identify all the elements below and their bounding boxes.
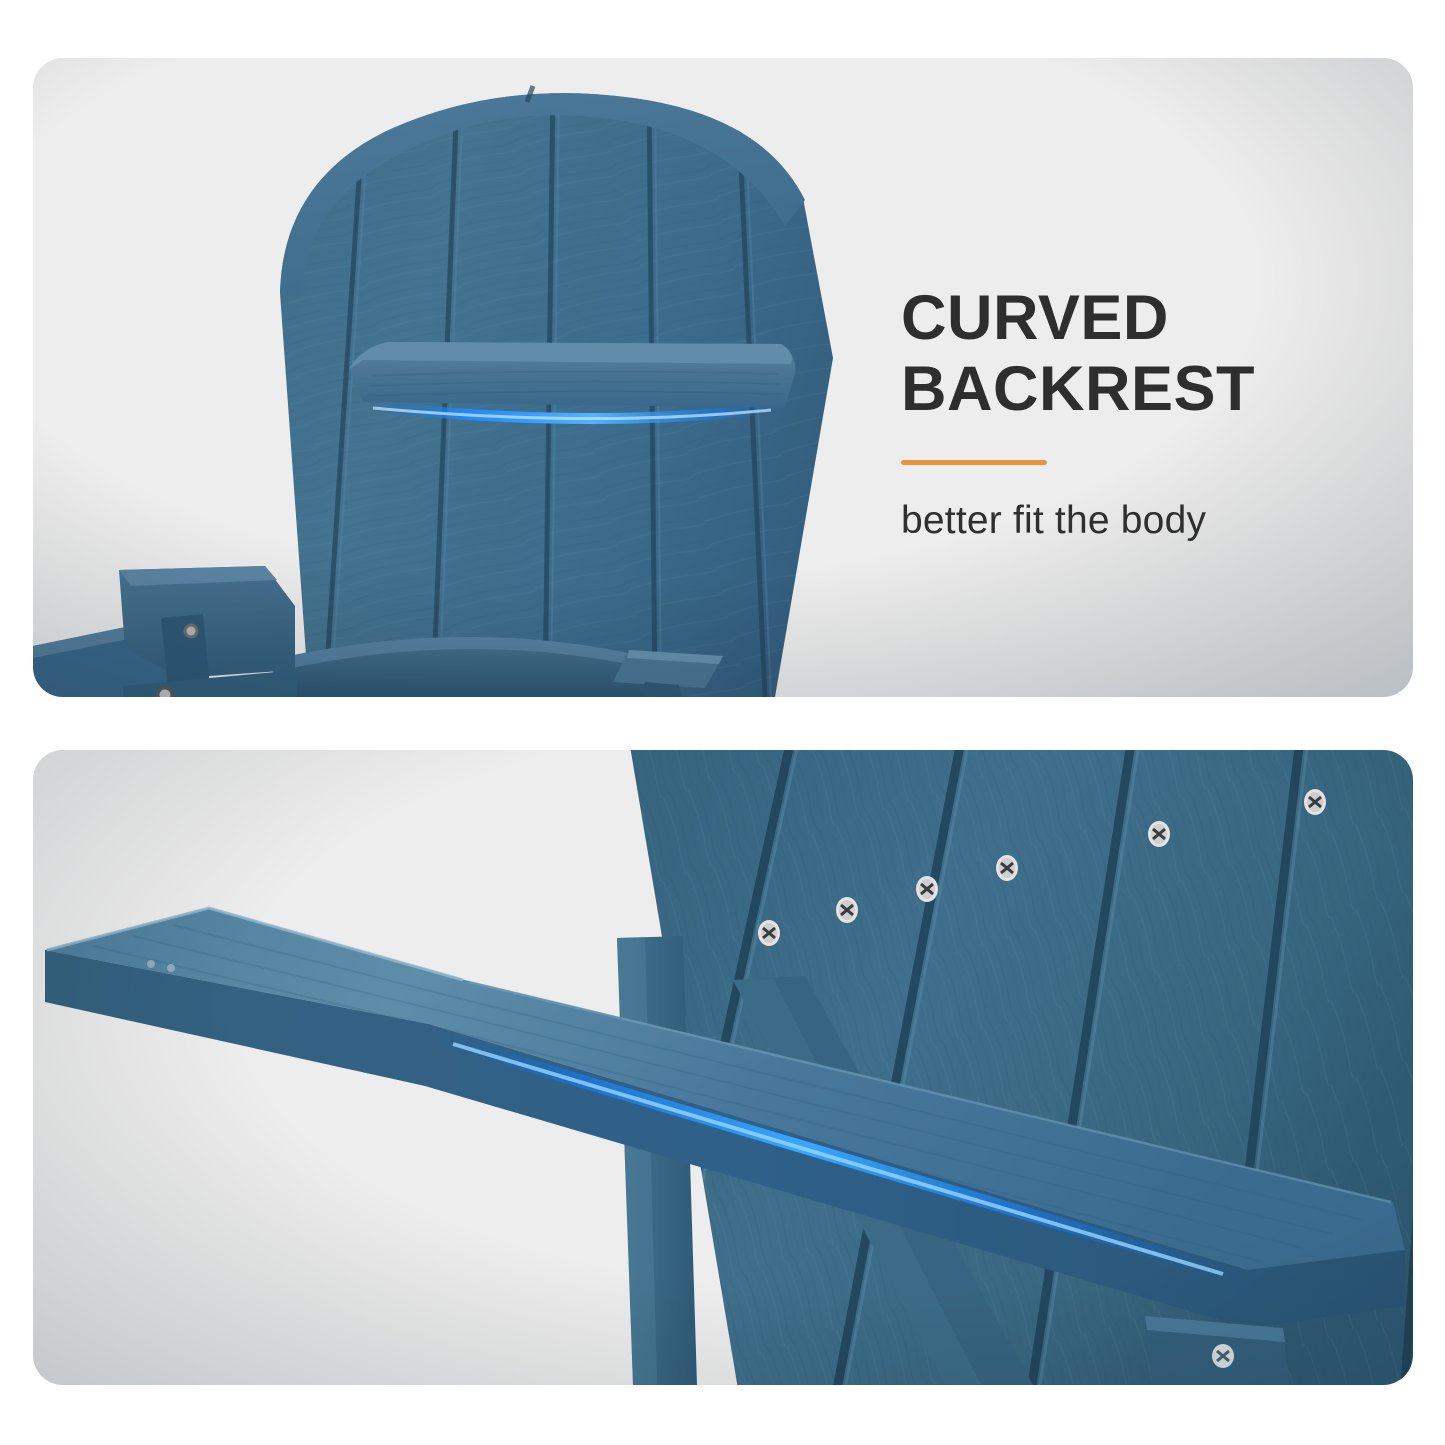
product-feature-graphic: CURVED BACKREST better fit the body (0, 0, 1445, 1445)
feature-text-curved-backrest: CURVED BACKREST better fit the body (901, 283, 1255, 543)
feature-subtitle: better fit the body (901, 499, 1255, 543)
feature-panel-wide-armrests: WIDE ARMRESTS for better arm relaxation (33, 750, 1413, 1385)
feature-title: CURVED BACKREST (901, 283, 1255, 424)
feature-panel-curved-backrest: CURVED BACKREST better fit the body (33, 58, 1413, 697)
accent-rule (901, 460, 1047, 465)
chair-armrest-photo (33, 750, 1413, 1385)
